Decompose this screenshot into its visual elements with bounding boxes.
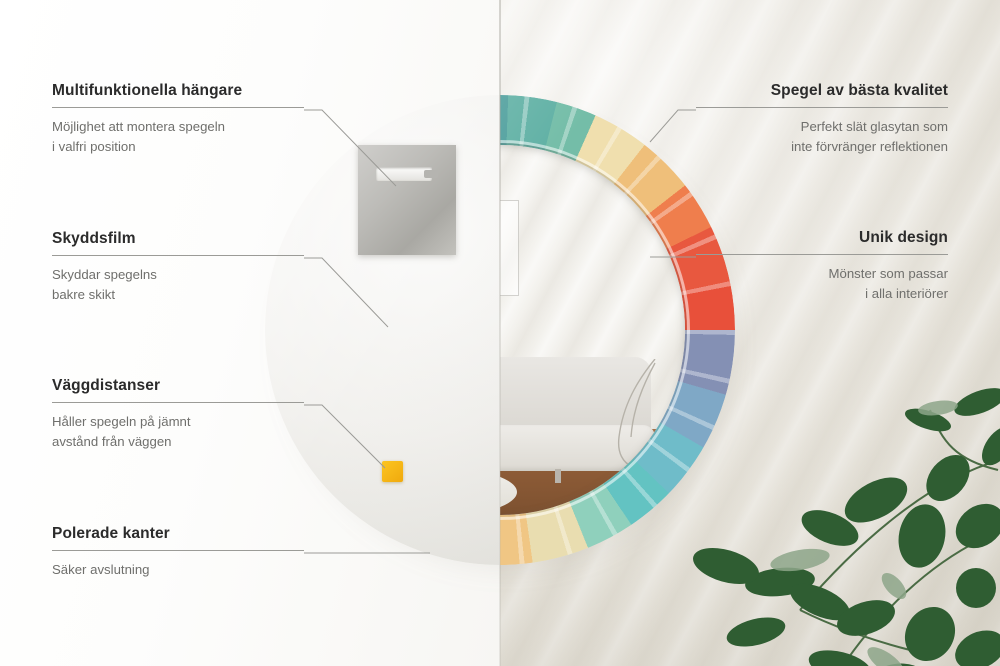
hanger-keyhole-slot <box>376 167 432 181</box>
infographic-canvas: Multifunktionella hängare Möjlighet att … <box>0 0 1000 666</box>
callout-desc: Mönster som passar i alla interiörer <box>696 264 948 303</box>
callout-title: Skyddsfilm <box>52 230 304 248</box>
callout-polished-edges: Polerade kanter Säker avslutning <box>52 525 304 580</box>
callout-desc: Säker avslutning <box>52 560 304 580</box>
callout-multifunctional-hangers: Multifunktionella hängare Möjlighet att … <box>52 82 304 156</box>
hanger-plate <box>358 145 456 255</box>
callout-rule <box>52 107 304 108</box>
callout-rule <box>52 402 304 403</box>
callout-rule <box>52 550 304 551</box>
callout-title: Spegel av bästa kvalitet <box>696 82 948 100</box>
callout-title: Polerade kanter <box>52 525 304 543</box>
callout-rule <box>52 255 304 256</box>
callout-title: Multifunktionella hängare <box>52 82 304 100</box>
callout-best-quality-mirror: Spegel av bästa kvalitet Perfekt slät gl… <box>696 82 948 156</box>
callout-rule <box>696 107 948 108</box>
callout-desc: Perfekt slät glasytan som inte förvränge… <box>696 117 948 156</box>
round-mirror <box>265 95 735 565</box>
mirror-split-seam <box>499 95 501 565</box>
wall-spacer <box>382 461 403 482</box>
callout-wall-spacers: Väggdistanser Håller spegeln på jämnt av… <box>52 377 304 451</box>
callout-desc: Möjlighet att montera spegeln i valfri p… <box>52 117 304 156</box>
callout-rule <box>696 254 948 255</box>
callout-desc: Skyddar spegelns bakre skikt <box>52 265 304 304</box>
callout-desc: Håller spegeln på jämnt avstånd från väg… <box>52 412 304 451</box>
callout-unique-design: Unik design Mönster som passar i alla in… <box>696 229 948 303</box>
callout-protective-film: Skyddsfilm Skyddar spegelns bakre skikt <box>52 230 304 304</box>
callout-title: Unik design <box>696 229 948 247</box>
callout-title: Väggdistanser <box>52 377 304 395</box>
